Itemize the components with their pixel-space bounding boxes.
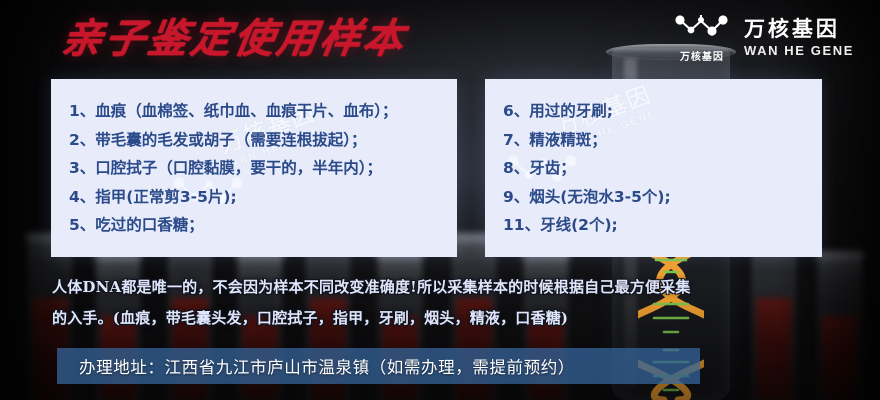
list-item: 8、牙齿；	[503, 154, 822, 183]
brand-mark: 万核基因	[674, 12, 730, 63]
list-item: 6、用过的牙刷;	[503, 97, 822, 126]
sample-list-right: 6、用过的牙刷; 7、精液精斑； 8、牙齿； 9、烟头(无泡水3-5个); 11…	[485, 79, 822, 240]
molecule-icon	[674, 12, 730, 45]
brand-logo: 万核基因 万核基因 WAN HE GENE	[674, 12, 854, 63]
sample-panel-left: 万核基因 WAN HE GENE 1、血痕（血棉签、纸巾血、血痕干片、血布）； …	[51, 79, 457, 257]
note-line-2: 的入手。(血痕，带毛囊头发，口腔拭子，指甲，牙刷，烟头，精液，口香糖)	[52, 303, 832, 334]
address-text: 办理地址：江西省九江市庐山市温泉镇（如需办理，需提前预约）	[57, 354, 575, 378]
slide-root: 亲子鉴定使用样本	[0, 0, 880, 400]
list-item: 5、吃过的口香糖；	[69, 211, 457, 240]
list-item: 4、指甲(正常剪3-5片);	[69, 183, 457, 212]
list-item: 9、烟头(无泡水3-5个);	[503, 183, 822, 212]
note-paragraph: 人体DNA都是唯一的，不会因为样本不同改变准确度!所以采集样本的时候根据自己最方…	[52, 272, 832, 334]
note-line-1: 人体DNA都是唯一的，不会因为样本不同改变准确度!所以采集样本的时候根据自己最方…	[52, 272, 832, 303]
address-bar: 办理地址：江西省九江市庐山市温泉镇（如需办理，需提前预约）	[57, 348, 700, 384]
brand-name-cn: 万核基因	[744, 18, 840, 42]
page-title: 亲子鉴定使用样本	[58, 16, 409, 62]
list-item: 1、血痕（血棉签、纸巾血、血痕干片、血布）；	[69, 97, 457, 126]
list-item: 11、牙线(2个);	[503, 211, 822, 240]
list-item: 7、精液精斑；	[503, 126, 822, 155]
list-item: 2、带毛囊的毛发或胡子（需要连根拔起）；	[69, 126, 457, 155]
brand-wordmark: 万核基因 WAN HE GENE	[744, 18, 854, 58]
list-item: 3、口腔拭子（口腔黏膜，要干的，半年内）；	[69, 154, 457, 183]
brand-name-en: WAN HE GENE	[744, 43, 854, 58]
sample-list-left: 1、血痕（血棉签、纸巾血、血痕干片、血布）； 2、带毛囊的毛发或胡子（需要连根拔…	[51, 79, 457, 240]
sample-panel-right: 万核基因 WAN HE GENE 6、用过的牙刷; 7、精液精斑； 8、牙齿； …	[485, 79, 822, 257]
brand-mark-label: 万核基因	[680, 48, 724, 63]
